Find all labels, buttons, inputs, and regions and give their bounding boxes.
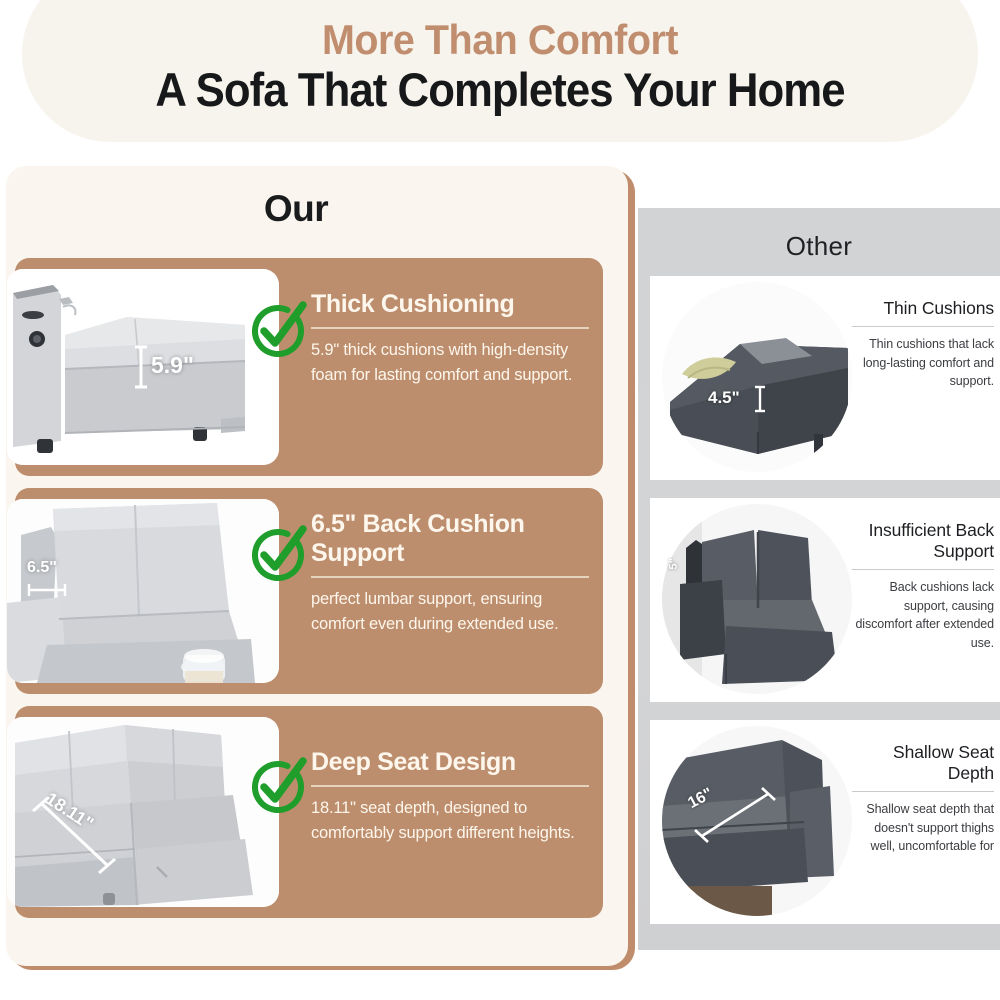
our-feature-heading: 6.5" Back Cushion Support — [311, 510, 589, 568]
sofa-side-thick-cushion-photo: 5.9" — [7, 269, 279, 465]
dimension-caliper-icon — [25, 581, 69, 599]
our-feature-card: 6.5" 6.5" Back Cushion Support perfect l… — [15, 488, 603, 694]
our-feature-text: Thick Cushioning 5.9" thick cushions wit… — [311, 290, 589, 388]
other-feature-heading: Thin Cushions — [852, 298, 994, 319]
our-feature-text: 6.5" Back Cushion Support perfect lumbar… — [311, 510, 589, 637]
our-feature-heading: Thick Cushioning — [311, 290, 589, 319]
sectional-deep-seat-photo: 18.11" — [7, 717, 279, 907]
other-feature-text: Shallow Seat Depth Shallow seat depth th… — [852, 742, 994, 856]
dimension-label: 6.5" — [27, 559, 57, 577]
our-feature-body: perfect lumbar support, ensuring comfort… — [311, 587, 589, 637]
divider — [311, 576, 589, 578]
dimension-caliper-icon — [754, 384, 766, 414]
check-circle-icon — [247, 522, 309, 584]
other-feature-row: 16" Shallow Seat Depth Shallow seat dept… — [650, 720, 1000, 924]
dimension-label: 4.5" — [708, 388, 740, 408]
our-feature-heading: Deep Seat Design — [311, 748, 589, 777]
sofa-back-cushion-photo: 6.5" — [7, 499, 279, 683]
divider — [852, 791, 994, 792]
dimension-label: 5" — [667, 558, 679, 570]
our-feature-body: 18.11" seat depth, designed to comfortab… — [311, 796, 589, 846]
check-circle-icon — [247, 298, 309, 360]
our-column-title: Our — [6, 188, 586, 230]
other-feature-heading: Shallow Seat Depth — [852, 742, 994, 784]
our-feature-body: 5.9" thick cushions with high-density fo… — [311, 338, 589, 388]
header-title: A Sofa That Completes Your Home — [35, 62, 965, 117]
other-feature-row: 4.5" Thin Cushions Thin cushions that la… — [650, 276, 1000, 480]
dimension-caliper-icon — [133, 343, 149, 391]
other-feature-text: Insufficient Back Support Back cushions … — [852, 520, 994, 652]
header-banner: More Than Comfort A Sofa That Completes … — [0, 0, 1000, 146]
other-column-title: Other — [638, 231, 1000, 262]
other-feature-heading: Insufficient Back Support — [852, 520, 994, 562]
other-feature-row: 5" Insufficient Back Support Back cushio… — [650, 498, 1000, 702]
our-feature-text: Deep Seat Design 18.11" seat depth, desi… — [311, 748, 589, 846]
dimension-arrow-icon — [680, 786, 800, 846]
our-feature-card: 18.11" Deep Seat Design 18.11" seat dept… — [15, 706, 603, 918]
header-subtitle: More Than Comfort — [30, 16, 970, 64]
divider — [852, 326, 994, 327]
other-feature-body: Shallow seat depth that doesn't support … — [852, 800, 994, 856]
other-feature-body: Back cushions lack support, causing disc… — [852, 578, 994, 652]
other-feature-text: Thin Cushions Thin cushions that lack lo… — [852, 298, 994, 391]
other-feature-body: Thin cushions that lack long-lasting com… — [852, 335, 994, 391]
divider — [852, 569, 994, 570]
dark-sofa-back-support-photo — [658, 500, 856, 698]
divider — [311, 327, 589, 329]
divider — [311, 785, 589, 787]
dark-sofa-thin-cushion-photo — [658, 278, 856, 476]
our-feature-card: 5.9" Thick Cushioning 5.9" thick cushion… — [15, 258, 603, 476]
dimension-arrow-icon — [29, 797, 149, 877]
check-circle-icon — [247, 754, 309, 816]
dimension-label: 5.9" — [151, 352, 194, 379]
